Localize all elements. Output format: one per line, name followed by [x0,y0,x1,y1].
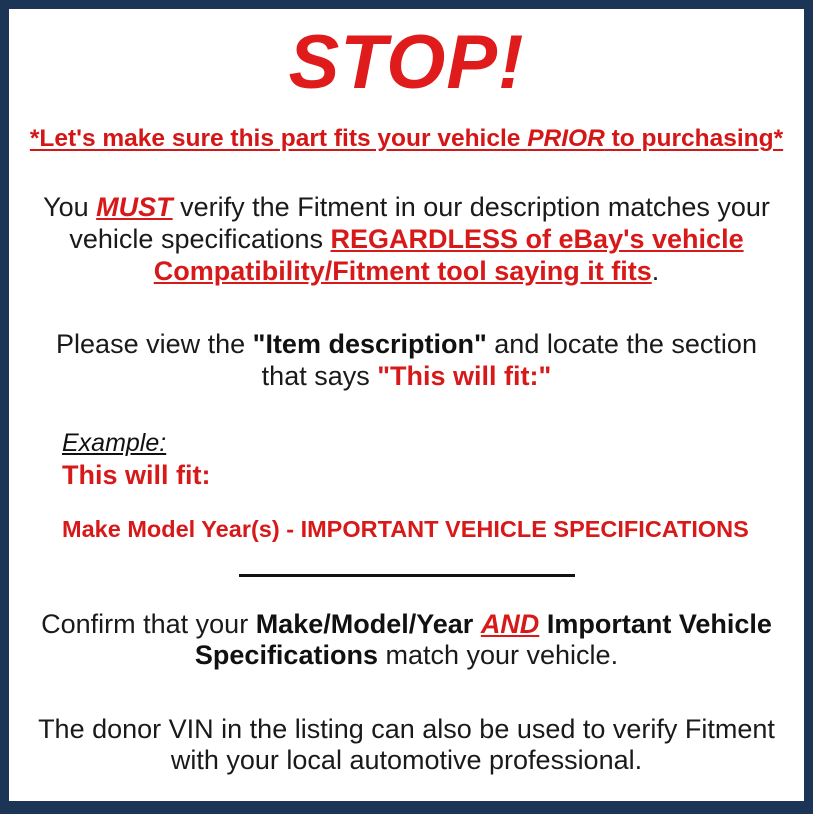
confirm-seg-1: Confirm that your [41,609,256,639]
subtitle-after: to purchasing* [605,125,783,152]
example-label-row: Example: [62,430,795,458]
fitment-notice-frame: STOP! *Let's make sure this part fits yo… [0,0,813,814]
example-spec-line: Make Model Year(s) - IMPORTANT VEHICLE S… [62,517,795,543]
view-seg-1: Please view the [56,329,253,359]
notice-content: STOP! *Let's make sure this part fits yo… [9,25,804,814]
subtitle-banner: *Let's make sure this part fits your veh… [18,125,795,152]
example-fit-heading: This will fit: [62,460,795,491]
must-seg-1: You [43,192,96,222]
subtitle-emphasis: PRIOR [527,125,605,152]
donor-vin-paragraph: The donor VIN in the listing can also be… [18,714,795,777]
section-divider-wrap [18,567,795,585]
confirm-space-2 [539,609,547,639]
example-label: Example: [62,430,166,458]
must-verify-paragraph: You MUST verify the Fitment in our descr… [18,192,795,287]
section-divider [239,574,575,577]
confirm-paragraph: Confirm that your Make/Model/Year AND Im… [18,609,795,672]
item-description-paragraph: Please view the "Item description" and l… [18,329,795,392]
and-emphasis: AND [481,609,540,639]
subtitle-before: *Let's make sure this part fits your veh… [30,125,527,152]
must-emphasis: MUST [96,192,173,222]
thank-you-message: Thank you for confirming Fitment! [18,807,795,814]
page-title: STOP! [18,25,795,101]
confirm-seg-2: match your vehicle. [378,640,618,670]
item-description-label: "Item description" [253,329,487,359]
must-seg-3: . [652,256,660,286]
example-block: Example: This will fit: Make Model Year(… [18,430,795,542]
confirm-space-1 [473,609,481,639]
make-model-year-emphasis: Make/Model/Year [256,609,474,639]
this-will-fit-quote: "This will fit:" [377,361,551,391]
